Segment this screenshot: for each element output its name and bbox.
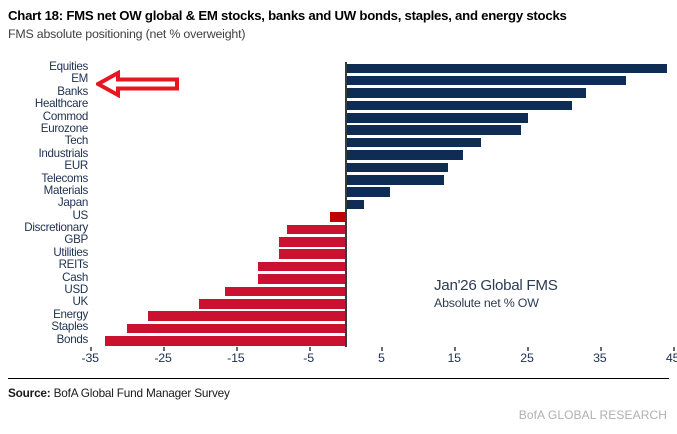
annotation-subtitle: Absolute net % OW: [434, 295, 654, 311]
zero-axis-line: [345, 62, 347, 347]
category-label-japan: Japan: [0, 197, 88, 210]
bar-row: Staples: [0, 322, 677, 335]
x-tick-label-15: 15: [424, 351, 484, 365]
x-tick-label-neg25: -25: [133, 351, 193, 365]
x-tick-label-35: 35: [570, 351, 630, 365]
chart-title: Chart 18: FMS net OW global & EM stocks,…: [8, 8, 673, 23]
source-label: Source:: [8, 386, 51, 400]
bar-row: Materials: [0, 186, 677, 199]
bar-staples: [127, 324, 345, 334]
bar-banks: [346, 88, 586, 98]
bar-japan: [346, 200, 364, 210]
category-label-eur: EUR: [0, 160, 88, 173]
bar-materials: [346, 187, 390, 197]
bar-energy: [148, 311, 345, 321]
bar-row: Industrials: [0, 149, 677, 162]
bar-row: Bonds: [0, 335, 677, 348]
bar-uk: [199, 299, 345, 309]
bar-row: EUR: [0, 161, 677, 174]
footer-divider: [8, 378, 669, 379]
bar-row: Utilities: [0, 248, 677, 261]
x-tick-label-neg15: -15: [206, 351, 266, 365]
category-label-staples: Staples: [0, 321, 88, 334]
research-watermark: BofA GLOBAL RESEARCH: [519, 408, 667, 422]
chart-subtitle: FMS absolute positioning (net % overweig…: [8, 27, 673, 41]
bar-em: [346, 76, 626, 86]
x-tick-label-25: 25: [497, 351, 557, 365]
bar-equities: [346, 64, 666, 74]
x-tick-label-neg5: -5: [279, 351, 339, 365]
bar-row: Commod: [0, 112, 677, 125]
source-text: BofA Global Fund Manager Survey: [51, 386, 230, 400]
category-label-bonds: Bonds: [0, 334, 88, 347]
category-label-reits: REITs: [0, 259, 88, 272]
bar-discretionary: [287, 225, 345, 235]
bar-row: US: [0, 211, 677, 224]
bar-bonds: [105, 336, 345, 346]
chart-annotation: Jan'26 Global FMS Absolute net % OW: [434, 276, 654, 311]
bar-commod: [346, 113, 528, 123]
bar-industrials: [346, 150, 462, 160]
bar-row: GBP: [0, 235, 677, 248]
bar-healthcare: [346, 101, 572, 111]
bar-row: Tech: [0, 136, 677, 149]
bar-eurozone: [346, 125, 521, 135]
bar-utilities: [279, 249, 345, 259]
bar-row: REITs: [0, 260, 677, 273]
x-tick-label-neg35: -35: [60, 351, 120, 365]
category-label-healthcare: Healthcare: [0, 98, 88, 111]
chart-page: Chart 18: FMS net OW global & EM stocks,…: [0, 0, 677, 434]
bar-telecoms: [346, 175, 444, 185]
bar-row: Discretionary: [0, 223, 677, 236]
source-note: Source: BofA Global Fund Manager Survey: [8, 386, 230, 400]
bar-row: Japan: [0, 198, 677, 211]
em-highlight-arrow-icon: [96, 70, 180, 98]
bar-usd: [225, 287, 345, 297]
bar-row: Eurozone: [0, 124, 677, 137]
x-axis: -35-25-15-5515253545: [0, 347, 677, 371]
bar-us: [330, 212, 345, 222]
bar-cash: [258, 274, 345, 284]
bar-eur: [346, 163, 448, 173]
bar-tech: [346, 138, 481, 148]
category-label-tech: Tech: [0, 135, 88, 148]
bar-row: Healthcare: [0, 99, 677, 112]
bar-row: Telecoms: [0, 174, 677, 187]
bar-gbp: [279, 237, 345, 247]
bar-row: Energy: [0, 310, 677, 323]
x-tick-label-45: 45: [643, 351, 677, 365]
annotation-title: Jan'26 Global FMS: [434, 276, 654, 295]
x-tick-label-5: 5: [351, 351, 411, 365]
bar-reits: [258, 262, 345, 272]
